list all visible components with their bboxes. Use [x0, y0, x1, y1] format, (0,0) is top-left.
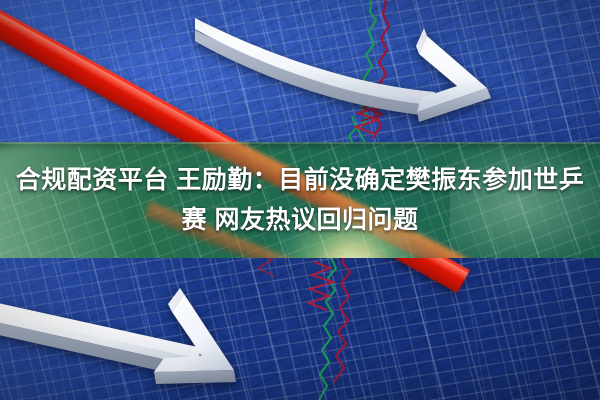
headline-text-block: 合规配资平台 王励勤：目前没确定樊振东参加世乒 赛 网友热议回归问题 [0, 142, 600, 258]
headline-line-2: 赛 网友热议回归问题 [182, 200, 419, 240]
headline-line-1: 合规配资平台 王励勤：目前没确定樊振东参加世乒 [16, 160, 584, 200]
thumbnail-canvas: 合规配资平台 王励勤：目前没确定樊振东参加世乒 赛 网友热议回归问题 [0, 0, 600, 400]
